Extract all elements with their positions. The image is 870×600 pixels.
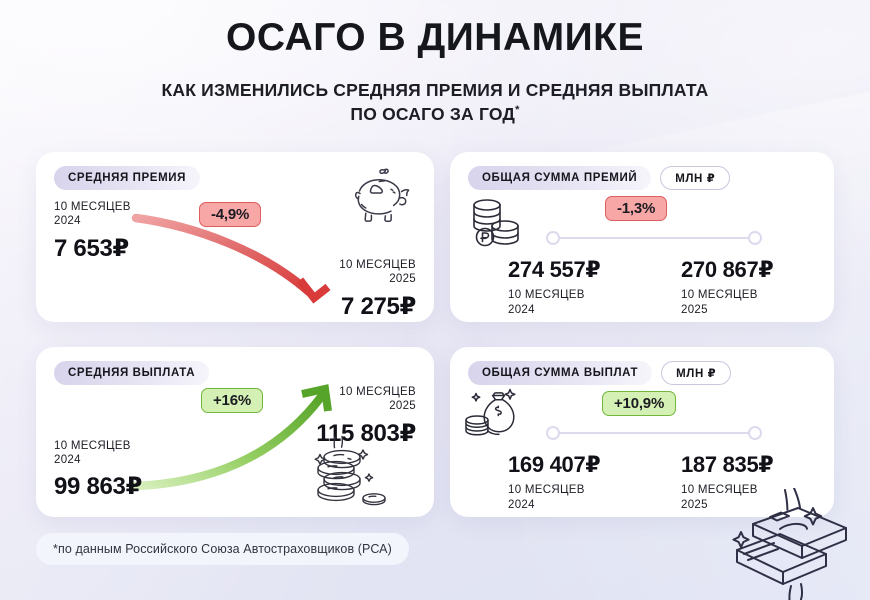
avg-payout-to-period-line1: 10 МЕСЯЦЕВ <box>316 385 416 399</box>
total-premium-from-value: 274 557₽ <box>508 257 600 282</box>
total-premium-from-period-line2: 2024 <box>508 303 600 317</box>
total-premium-to-block: 270 867₽ 10 МЕСЯЦЕВ 2025 <box>681 257 773 317</box>
total-payout-from-block: 169 407₽ 10 МЕСЯЦЕВ 2024 <box>508 452 600 512</box>
avg-payout-from-block: 10 МЕСЯЦЕВ 2024 99 863₽ <box>54 439 142 501</box>
total-premium-from-block: 274 557₽ 10 МЕСЯЦЕВ 2024 <box>508 257 600 317</box>
total-payout-from-period-line1: 10 МЕСЯЦЕВ <box>508 483 600 497</box>
total-premium-connector <box>546 231 762 245</box>
avg-premium-to-period-line1: 10 МЕСЯЦЕВ <box>339 258 416 272</box>
subtitle-asterisk: * <box>515 104 519 116</box>
card-total-payout-label: ОБЩАЯ СУММА ВЫПЛАТ <box>468 361 652 385</box>
card-total-payout-unit: МЛН ₽ <box>661 361 731 385</box>
avg-payout-from-value: 99 863₽ <box>54 473 142 501</box>
subtitle-line-2: ПО ОСАГО ЗА ГОД <box>350 104 515 124</box>
card-total-premium-header: ОБЩАЯ СУММА ПРЕМИЙ МЛН ₽ <box>468 166 730 190</box>
card-average-payout: СРЕДНЯЯ ВЫПЛАТА +16% 10 МЕСЯЦЕВ 2025 115… <box>36 347 434 517</box>
connector-dot-start <box>546 426 560 440</box>
header: ОСАГО В ДИНАМИКЕ КАК ИЗМЕНИЛИСЬ СРЕДНЯЯ … <box>0 18 870 126</box>
total-premium-to-period-line2: 2025 <box>681 303 773 317</box>
coin-stack-icon <box>468 196 528 259</box>
banknotes-icon <box>728 488 864 600</box>
infographic-stage: ОСАГО В ДИНАМИКЕ КАК ИЗМЕНИЛИСЬ СРЕДНЯЯ … <box>0 0 870 600</box>
avg-premium-to-value: 7 275₽ <box>339 293 416 321</box>
avg-premium-to-block: 10 МЕСЯЦЕВ 2025 7 275₽ <box>339 258 416 320</box>
connector-dot-end <box>748 231 762 245</box>
card-total-payout-header: ОБЩАЯ СУММА ВЫПЛАТ МЛН ₽ <box>468 361 731 385</box>
connector-line <box>555 432 753 434</box>
money-bag-icon <box>464 387 536 452</box>
footnote: *по данным Российского Союза Автострахов… <box>36 533 409 565</box>
subtitle-line-1: КАК ИЗМЕНИЛИСЬ СРЕДНЯЯ ПРЕМИЯ И СРЕДНЯЯ … <box>162 80 709 100</box>
coins-pile-icon <box>298 434 390 515</box>
card-total-premium: ОБЩАЯ СУММА ПРЕМИЙ МЛН ₽ <box>450 152 834 322</box>
avg-premium-delta-badge: -4,9% <box>199 202 261 227</box>
avg-payout-delta-badge: +16% <box>201 388 263 413</box>
card-average-premium: СРЕДНЯЯ ПРЕМИЯ <box>36 152 434 322</box>
connector-dot-end <box>748 426 762 440</box>
page-title: ОСАГО В ДИНАМИКЕ <box>0 18 870 59</box>
total-premium-delta-badge: -1,3% <box>605 196 667 221</box>
avg-payout-to-period-line2: 2025 <box>316 399 416 413</box>
total-payout-delta-badge: +10,9% <box>602 391 676 416</box>
page-subtitle: КАК ИЗМЕНИЛИСЬ СРЕДНЯЯ ПРЕМИЯ И СРЕДНЯЯ … <box>0 79 870 126</box>
total-payout-connector <box>546 426 762 440</box>
total-payout-to-value: 187 835₽ <box>681 452 773 477</box>
total-payout-from-value: 169 407₽ <box>508 452 600 477</box>
connector-line <box>555 237 753 239</box>
avg-premium-to-period-line2: 2025 <box>339 272 416 286</box>
total-premium-to-value: 270 867₽ <box>681 257 773 282</box>
total-premium-to-period-line1: 10 МЕСЯЦЕВ <box>681 288 773 302</box>
connector-dot-start <box>546 231 560 245</box>
avg-payout-from-period-line2: 2024 <box>54 453 142 467</box>
card-total-premium-label: ОБЩАЯ СУММА ПРЕМИЙ <box>468 166 651 190</box>
total-payout-from-period-line2: 2024 <box>508 498 600 512</box>
total-premium-from-period-line1: 10 МЕСЯЦЕВ <box>508 288 600 302</box>
avg-payout-from-period-line1: 10 МЕСЯЦЕВ <box>54 439 142 453</box>
card-total-premium-unit: МЛН ₽ <box>660 166 730 190</box>
